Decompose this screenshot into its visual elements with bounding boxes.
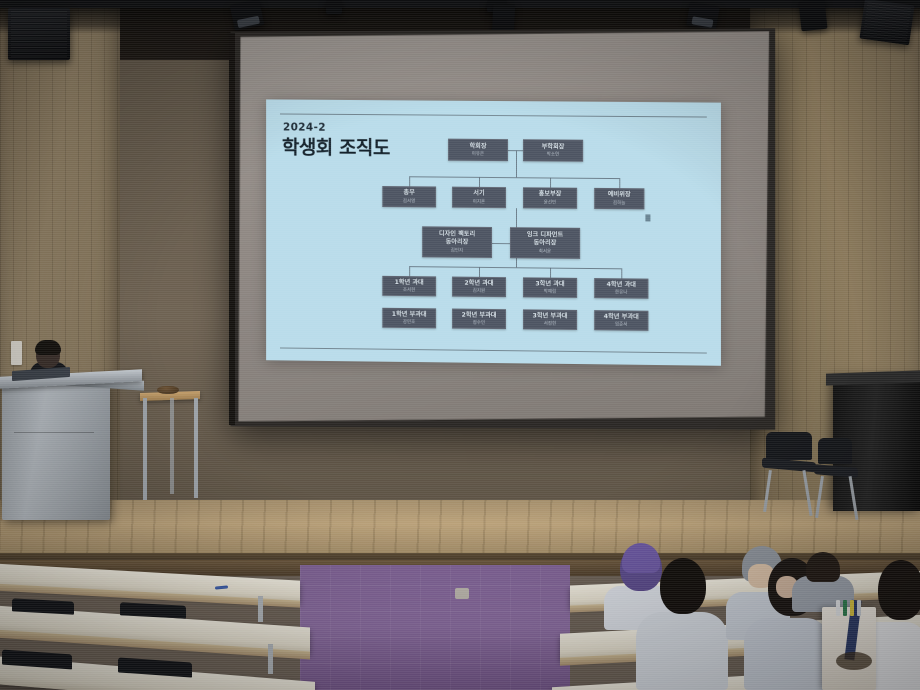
org-connector bbox=[492, 242, 510, 243]
org-node: 홍보부장윤선민 bbox=[523, 187, 577, 209]
org-node-person: 정수민 bbox=[473, 320, 485, 326]
presentation-slide: 2024-2 학생회 조직도 학회장이유은부학회장박소연총무김서영서기이지흔홍보… bbox=[266, 99, 721, 365]
org-node-title: 1학년 부과대 bbox=[392, 310, 427, 318]
table-leg-back bbox=[170, 398, 174, 494]
org-node: 3학년 부과대서정현 bbox=[523, 309, 577, 330]
folding-chairs bbox=[762, 432, 854, 520]
org-node: 2학년 부과대정수민 bbox=[452, 309, 506, 330]
slide-top-rule bbox=[280, 113, 707, 117]
org-node: 3학년 과대박예림 bbox=[523, 277, 577, 298]
org-connector bbox=[409, 176, 619, 179]
org-node: 4학년 부과대임준서 bbox=[594, 310, 648, 331]
table-leg-right bbox=[194, 398, 198, 498]
org-node-title: 서기 bbox=[473, 190, 484, 198]
org-node-title: 부학회장 bbox=[542, 143, 565, 151]
floor-power-outlet[interactable] bbox=[455, 588, 469, 599]
org-node-title: 예비위장 bbox=[608, 191, 631, 199]
org-node-person: 조서현 bbox=[403, 287, 415, 293]
org-node: 디자인 팩토리동아리장김민지 bbox=[422, 226, 492, 258]
org-node: 2학년 과대김지원 bbox=[452, 277, 506, 298]
org-node-title: 2학년 부과대 bbox=[462, 311, 497, 319]
org-connector bbox=[619, 178, 620, 188]
org-node-title: 2학년 과대 bbox=[464, 279, 493, 287]
org-node-title: 학회장 bbox=[469, 142, 486, 150]
mouse-cursor-icon bbox=[645, 214, 650, 221]
org-connector bbox=[550, 177, 551, 187]
podium-panel-seam bbox=[14, 432, 94, 433]
org-node-person: 서정현 bbox=[544, 321, 556, 327]
org-node-title: 3학년 과대 bbox=[535, 280, 564, 288]
ceiling-truss bbox=[0, 0, 920, 8]
org-connector bbox=[516, 258, 517, 267]
screen-left-edge bbox=[229, 33, 235, 425]
org-node: 부학회장박소연 bbox=[523, 139, 583, 162]
org-node-person: 이지흔 bbox=[473, 199, 485, 205]
org-node-person: 김하늘 bbox=[613, 200, 625, 206]
center-aisle-carpet bbox=[300, 565, 570, 690]
org-node-title: 디자인 팩토리동아리장 bbox=[439, 231, 475, 247]
org-node-person: 김서영 bbox=[403, 198, 415, 204]
org-node: 1학년 부과대강민호 bbox=[382, 308, 436, 329]
org-node: 총무김서영 bbox=[382, 186, 436, 207]
bag-logo bbox=[836, 652, 872, 670]
org-node: 1학년 과대조서현 bbox=[382, 276, 436, 297]
wall-control-panel[interactable] bbox=[11, 341, 22, 365]
org-node: 학회장이유은 bbox=[448, 139, 508, 161]
org-connector bbox=[479, 267, 480, 277]
org-node: 예비위장김하늘 bbox=[594, 188, 644, 210]
desk-leg-b bbox=[268, 644, 273, 674]
org-chart: 학회장이유은부학회장박소연총무김서영서기이지흔홍보부장윤선민예비위장김하늘디자인… bbox=[360, 138, 710, 354]
org-connector bbox=[479, 177, 480, 187]
table-leg-left bbox=[143, 398, 147, 500]
bowl-on-table bbox=[157, 386, 179, 394]
org-node-title: 1학년 과대 bbox=[395, 279, 424, 287]
org-node-person: 김민지 bbox=[451, 247, 463, 253]
org-node: 서기이지흔 bbox=[452, 187, 506, 208]
desk-leg-a bbox=[258, 596, 263, 622]
stage-light-5 bbox=[686, 2, 720, 31]
org-connector bbox=[550, 268, 551, 278]
org-connector bbox=[409, 266, 410, 276]
org-node: 4학년 과대한유나 bbox=[594, 278, 648, 299]
org-connector bbox=[621, 268, 622, 278]
ceiling-speaker-right bbox=[859, 0, 914, 45]
org-node-title: 홍보부장 bbox=[539, 191, 562, 199]
org-node-title: 잉크 디파먼트동아리장 bbox=[527, 232, 563, 248]
presenter-hair bbox=[35, 340, 61, 355]
org-node-person: 윤선민 bbox=[544, 199, 556, 205]
org-node-person: 박소연 bbox=[547, 152, 559, 158]
org-node-person: 한유나 bbox=[615, 290, 627, 296]
org-node-title: 3학년 부과대 bbox=[533, 312, 568, 320]
org-node-person: 최서윤 bbox=[539, 248, 551, 254]
pens-in-bag bbox=[836, 600, 866, 616]
org-connector bbox=[516, 150, 517, 177]
org-connector bbox=[409, 266, 621, 269]
org-node-person: 임준서 bbox=[615, 322, 627, 328]
org-connector bbox=[409, 176, 410, 186]
org-node-title: 4학년 부과대 bbox=[604, 313, 639, 321]
org-node-person: 이유은 bbox=[472, 151, 484, 157]
org-node-title: 4학년 과대 bbox=[607, 281, 636, 289]
org-node-person: 박예림 bbox=[544, 289, 556, 295]
auditorium-scene: 2024-2 학생회 조직도 학회장이유은부학회장박소연총무김서영서기이지흔홍보… bbox=[0, 0, 920, 690]
stage-light-6 bbox=[799, 0, 828, 31]
org-node-title: 총무 bbox=[403, 189, 414, 197]
ceiling-speaker-left bbox=[8, 8, 70, 60]
stage-light-2 bbox=[326, 0, 342, 14]
org-node: 잉크 디파먼트동아리장최서윤 bbox=[510, 227, 580, 259]
org-node-person: 강민호 bbox=[403, 319, 415, 325]
podium bbox=[2, 381, 110, 520]
org-node-person: 김지원 bbox=[473, 288, 485, 294]
